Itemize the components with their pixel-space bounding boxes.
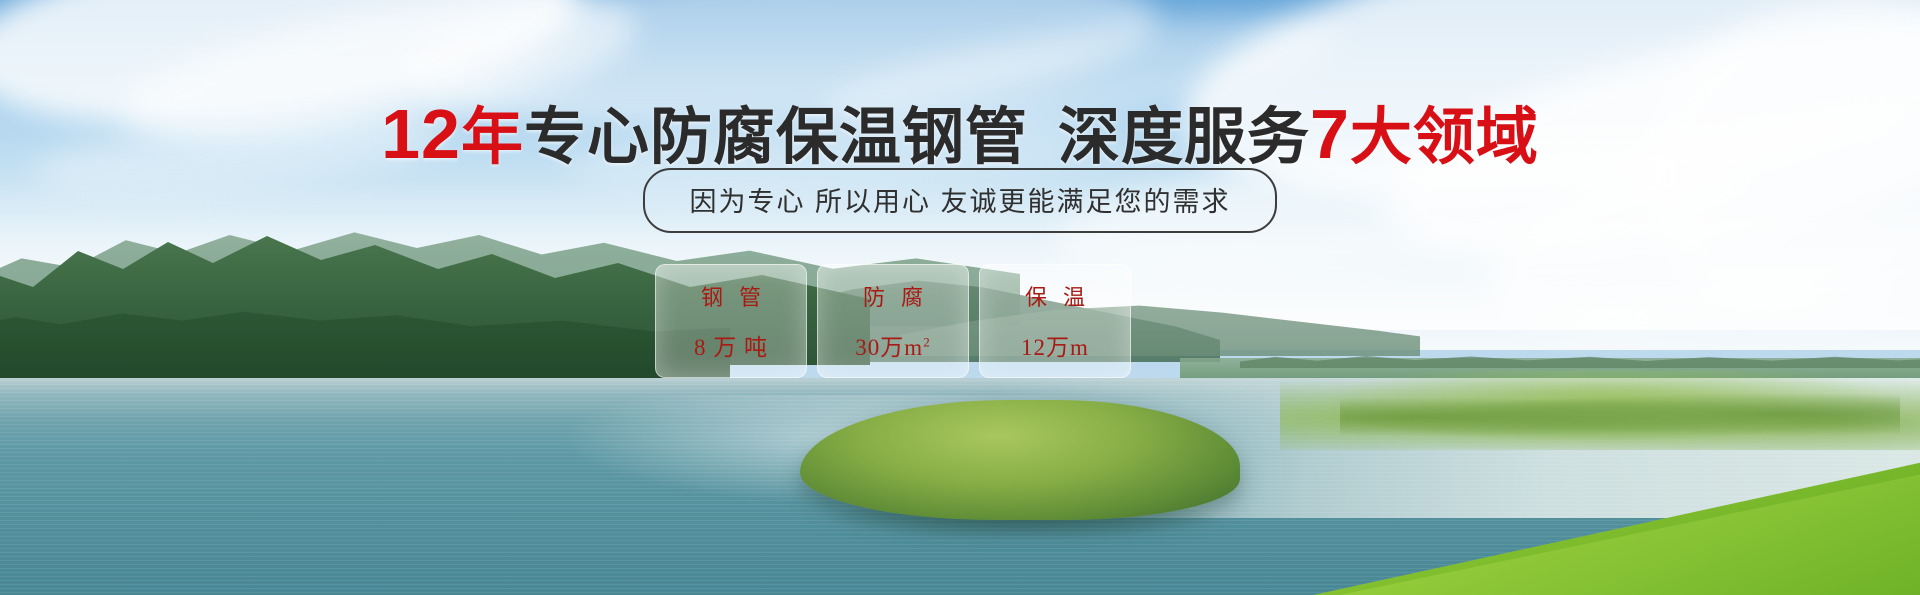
stat-value: 12万m bbox=[1021, 328, 1089, 362]
headline: 12年专心防腐保温钢管深度服务7大领域 bbox=[0, 86, 1920, 176]
subtitle-pill: 因为专心 所以用心 友诚更能满足您的需求 bbox=[643, 168, 1276, 233]
banner-content: 12年专心防腐保温钢管深度服务7大领域 因为专心 所以用心 友诚更能满足您的需求… bbox=[0, 0, 1920, 595]
headline-fields-number: 7 bbox=[1310, 95, 1350, 173]
stat-label: 钢 管 bbox=[696, 280, 766, 312]
subtitle-wrapper: 因为专心 所以用心 友诚更能满足您的需求 bbox=[0, 168, 1920, 233]
stat-card-steel-pipe: 钢 管 8 万 吨 bbox=[655, 264, 807, 378]
stat-value: 8 万 吨 bbox=[694, 328, 768, 362]
stat-value-main: 8 万 吨 bbox=[694, 335, 768, 360]
stat-label: 防 腐 bbox=[858, 280, 928, 312]
headline-main-a: 专心防腐保温钢管 bbox=[524, 103, 1028, 172]
stat-value: 30万m2 bbox=[855, 328, 930, 362]
headline-years-number: 12 bbox=[381, 95, 461, 173]
headline-years-unit: 年 bbox=[461, 103, 524, 172]
stat-card-insulation: 保 温 12万m bbox=[979, 264, 1131, 378]
stat-value-superscript: 2 bbox=[923, 334, 931, 349]
stat-value-main: 12万m bbox=[1021, 335, 1089, 360]
stat-card-anticorrosion: 防 腐 30万m2 bbox=[817, 264, 969, 378]
headline-main-c-accent: 大领域 bbox=[1350, 103, 1539, 172]
stats-row: 钢 管 8 万 吨 防 腐 30万m2 保 温 12万m bbox=[655, 264, 1131, 378]
headline-main-b: 深度服务 bbox=[1058, 103, 1310, 172]
stat-label: 保 温 bbox=[1020, 280, 1090, 312]
promo-banner: 12年专心防腐保温钢管深度服务7大领域 因为专心 所以用心 友诚更能满足您的需求… bbox=[0, 0, 1920, 595]
stat-value-main: 30万m bbox=[855, 335, 923, 360]
